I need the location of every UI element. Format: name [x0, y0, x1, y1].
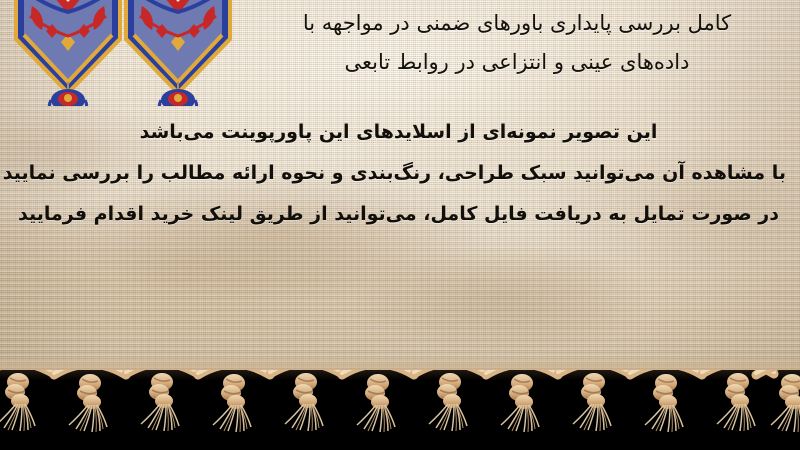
- carpet-fringe: [0, 370, 800, 450]
- persian-medallion-icon: [118, 0, 238, 106]
- slide-body-text: این تصویر نمونه‌ای از اسلایدهای این پاور…: [11, 112, 786, 235]
- body-line-3: در صورت تمایل به دریافت فایل کامل، می‌تو…: [11, 194, 786, 235]
- title-line-2: داده‌های عینی و انتزاعی در روابط تابعی: [252, 43, 782, 82]
- body-line-2: با مشاهده آن می‌توانید سبک طراحی، رنگ‌بن…: [11, 153, 786, 194]
- body-line-1: این تصویر نمونه‌ای از اسلایدهای این پاور…: [11, 112, 786, 153]
- title-line-1: کامل بررسی پایداری باورهای ضمنی در مواجه…: [252, 4, 782, 43]
- slide-canvas: کامل بررسی پایداری باورهای ضمنی در مواجه…: [0, 0, 800, 450]
- persian-medallion-icon: [8, 0, 128, 106]
- slide-title: کامل بررسی پایداری باورهای ضمنی در مواجه…: [252, 4, 782, 82]
